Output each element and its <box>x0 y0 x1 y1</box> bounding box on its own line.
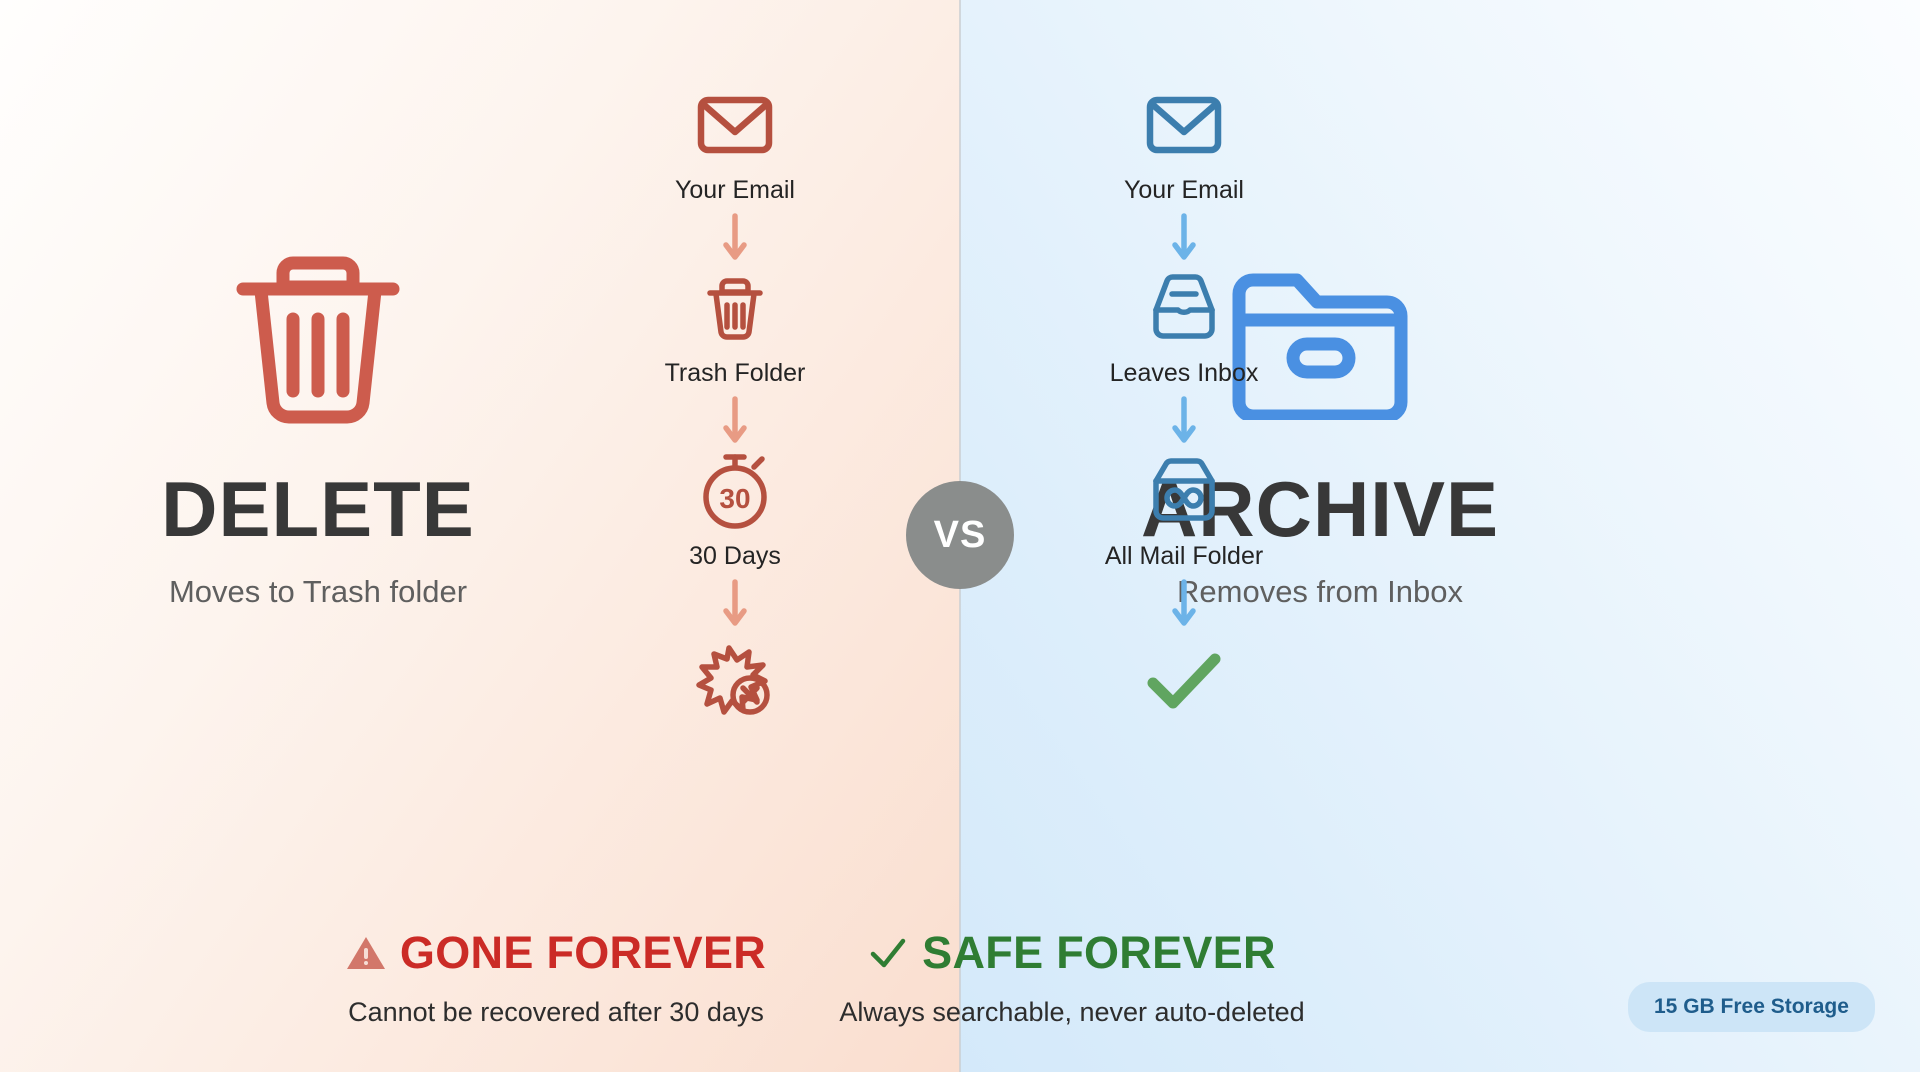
svg-text:30: 30 <box>719 483 750 514</box>
delete-hero: DELETE Moves to Trash folder <box>38 236 598 610</box>
infinity-archive-icon <box>1141 454 1227 528</box>
archive-flow: Your Email Leaves Inbox <box>1034 88 1334 723</box>
flow-step-your-email: Your Email <box>1124 88 1244 205</box>
flow-step-thirty-days: 30 30 Days <box>689 454 781 571</box>
arrow-down-icon <box>722 577 748 633</box>
archive-verdict: SAFE FOREVER Always searchable, never au… <box>712 930 1432 1028</box>
verdict-detail: Always searchable, never auto-deleted <box>712 997 1432 1028</box>
arrow-down-icon <box>1171 394 1197 450</box>
check-mark-icon <box>1140 637 1228 723</box>
explosion-x-icon <box>693 637 777 723</box>
delete-flow: Your Email Trash Folder <box>585 88 885 723</box>
flow-step-all-mail-folder: All Mail Folder <box>1105 454 1263 571</box>
flow-step-label: 30 Days <box>689 542 781 571</box>
flow-step-your-email: Your Email <box>675 88 795 205</box>
vs-label: VS <box>934 514 987 557</box>
stopwatch-icon: 30 <box>695 454 775 528</box>
arrow-down-icon <box>1171 577 1197 633</box>
verdict-headline: SAFE FOREVER <box>922 930 1276 975</box>
trash-can-icon <box>38 236 598 432</box>
page-title-delete: DELETE <box>38 470 598 548</box>
arrow-down-icon <box>722 211 748 267</box>
flow-step-label: All Mail Folder <box>1105 542 1263 571</box>
flow-step-label: Your Email <box>675 176 795 205</box>
envelope-icon <box>696 88 774 162</box>
flow-step-leaves-inbox: Leaves Inbox <box>1110 271 1259 388</box>
arrow-down-icon <box>1171 211 1197 267</box>
delete-subtitle: Moves to Trash folder <box>38 574 598 610</box>
arrow-down-icon <box>722 394 748 450</box>
check-mark-icon <box>868 935 908 971</box>
inbox-tray-icon <box>1141 271 1227 345</box>
trash-can-icon <box>705 271 765 345</box>
warning-triangle-icon <box>346 935 386 971</box>
flow-step-label: Trash Folder <box>665 359 806 388</box>
flow-step-label: Leaves Inbox <box>1110 359 1259 388</box>
flow-step-label: Your Email <box>1124 176 1244 205</box>
status-badge-storage: 15 GB Free Storage <box>1628 982 1875 1032</box>
envelope-icon <box>1145 88 1223 162</box>
vs-badge: VS <box>906 481 1014 589</box>
flow-step-trash-folder: Trash Folder <box>665 271 806 388</box>
infographic-canvas: DELETE Moves to Trash folder ARCHIVE Rem… <box>0 0 1920 1072</box>
